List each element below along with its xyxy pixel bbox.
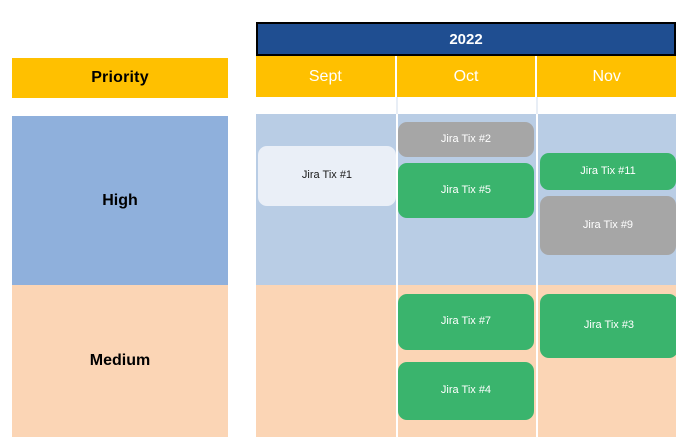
month-divider-gap-2	[536, 97, 538, 114]
priority-cell-medium: Medium	[12, 285, 228, 437]
ticket-card-jira-tix-2[interactable]: Jira Tix #2	[398, 122, 534, 157]
swimlane-medium: Jira Tix #7 Jira Tix #4 Jira Tix #3	[256, 285, 676, 437]
ticket-card-jira-tix-3[interactable]: Jira Tix #3	[540, 294, 676, 358]
month-divider-oct-nov	[536, 114, 538, 285]
ticket-card-jira-tix-11[interactable]: Jira Tix #11	[540, 153, 676, 190]
ticket-card-jira-tix-5[interactable]: Jira Tix #5	[398, 163, 534, 218]
ticket-card-jira-tix-9[interactable]: Jira Tix #9	[540, 196, 676, 255]
jira-priority-timeline-board: Priority High Medium 2022 Sept Oct Nov J…	[0, 0, 676, 437]
ticket-card-jira-tix-4[interactable]: Jira Tix #4	[398, 362, 534, 420]
ticket-card-jira-tix-7[interactable]: Jira Tix #7	[398, 294, 534, 350]
month-divider-oct-nov-medium	[536, 285, 538, 437]
priority-column-header: Priority	[12, 58, 228, 98]
timeline-year-bar: 2022	[256, 22, 676, 56]
month-header-sept[interactable]: Sept	[256, 56, 397, 97]
ticket-card-jira-tix-1[interactable]: Jira Tix #1	[258, 146, 396, 206]
priority-cell-high: High	[12, 116, 228, 285]
month-header-oct[interactable]: Oct	[397, 56, 538, 97]
month-divider-gap-1	[396, 97, 398, 114]
month-header-nov[interactable]: Nov	[537, 56, 676, 97]
timeline-month-header-row: Sept Oct Nov	[256, 56, 676, 97]
swimlane-high: Jira Tix #1 Jira Tix #2 Jira Tix #5 Jira…	[256, 114, 676, 285]
